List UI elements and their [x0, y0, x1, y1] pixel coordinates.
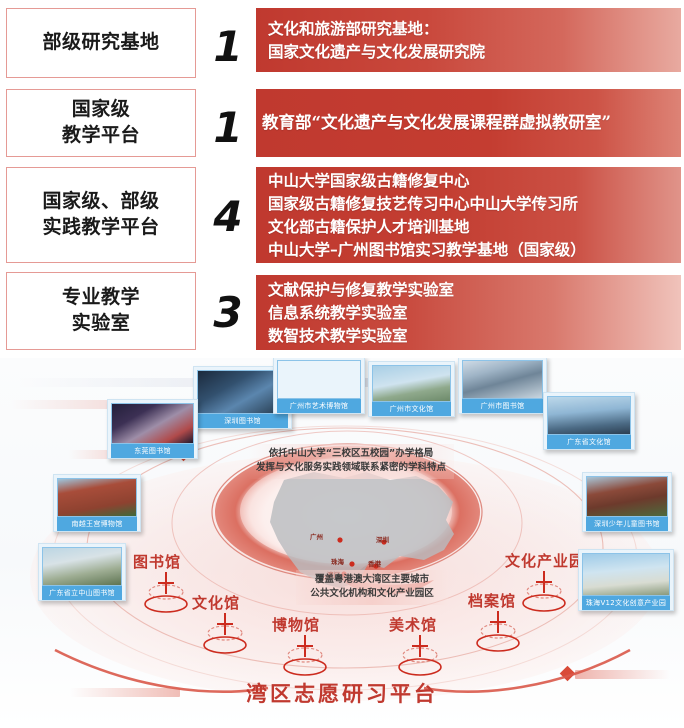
photo-caption: 广东省立中山图书馆 [42, 586, 122, 600]
row1-item-1: 国家文化遗产与文化发展研究院 [268, 40, 485, 63]
row1-item-0: 文化和旅游部研究基地： [268, 17, 485, 40]
row-label-text-2a: 国家级 [62, 97, 140, 123]
coverage-callout-line-2: 公共文化机构和文化产业园区 [304, 587, 440, 601]
node-pin-art-gallery [388, 633, 452, 677]
row3-item-0: 中山大学国家级古籍修复中心 [268, 169, 586, 192]
table-row-label-1: 部级研究基地 [6, 8, 196, 78]
photo-image [111, 403, 194, 444]
photo-caption: 广州市图书馆 [462, 399, 543, 413]
table-row-content-3: 中山大学国家级古籍修复中心 国家级古籍修复技艺传习中心中山大学传习所 文化部古籍… [256, 167, 681, 263]
node-pin-library [134, 570, 198, 614]
photo-card[interactable]: 珠海V12文化创意产业园 [578, 549, 674, 611]
center-callout: 依托中山大学“三校区五校园”办学格局 发挥与文化服务实践领域联系紧密的学科特点 [248, 444, 454, 479]
row3-item-1: 国家级古籍修复技艺传习中心中山大学传习所 [268, 192, 586, 215]
table-row-count-2: 1 [205, 103, 251, 152]
node-pin-cultural-center [193, 611, 257, 655]
center-callout-line-1: 依托中山大学“三校区五校园”办学格局 [256, 447, 446, 461]
photo-image [277, 360, 361, 399]
table-row-content-1: 文化和旅游部研究基地： 国家文化遗产与文化发展研究院 [256, 8, 681, 72]
photo-card[interactable]: 深圳少年儿童图书馆 [582, 472, 672, 532]
row-label-text-3b: 实践教学平台 [42, 215, 159, 241]
row-label-text-4b: 实验室 [62, 311, 140, 337]
table-row-count-3: 4 [205, 192, 251, 241]
node-label-library: 图书馆 [133, 551, 181, 572]
photo-caption: 广州市艺术博物馆 [277, 399, 361, 413]
row3-item-3: 中山大学–广州图书馆实习教学基地（国家级） [268, 238, 586, 261]
photo-caption: 广东省文化馆 [547, 435, 631, 449]
map-city-zhuhai: 珠海 [331, 556, 344, 566]
photo-card[interactable]: 东莞图书馆 [107, 399, 198, 459]
node-label-archive: 档案馆 [468, 590, 516, 611]
table-row-label-4: 专业教学 实验室 [6, 272, 196, 350]
table-row-label-2: 国家级 教学平台 [6, 89, 196, 157]
coverage-callout: 覆盖粤港澳大湾区主要城市 公共文化机构和文化产业园区 [296, 570, 448, 605]
center-callout-line-2: 发挥与文化服务实践领域联系紧密的学科特点 [256, 461, 446, 475]
node-label-cultural-center: 文化馆 [192, 592, 240, 613]
node-label-museum: 博物馆 [272, 614, 320, 635]
row-label-text-1: 部级研究基地 [42, 30, 159, 56]
photo-image [462, 360, 543, 399]
table-row-label-3: 国家级、部级 实践教学平台 [6, 167, 196, 263]
photo-card[interactable]: 广州市艺术博物馆 [273, 358, 365, 414]
node-pin-archive [466, 609, 530, 653]
map-city-guangzhou: 广州 [310, 531, 323, 541]
photo-caption: 深圳少年儿童图书馆 [586, 517, 668, 531]
node-pin-museum [273, 633, 337, 677]
table-row-count-1: 1 [205, 22, 251, 71]
photo-image [547, 396, 631, 435]
row3-item-2: 文化部古籍保护人才培训基地 [268, 215, 586, 238]
bottom-title: 湾区志愿研习平台 [0, 678, 684, 708]
map-city-shenzhen: 深圳 [376, 534, 389, 544]
photo-caption: 东莞图书馆 [111, 444, 194, 458]
photo-caption: 广州市文化馆 [372, 402, 451, 416]
row-label-text-2b: 教学平台 [62, 123, 140, 149]
node-pin-cultural-industry-park [512, 569, 576, 613]
row4-item-2: 数智技术教学实验室 [268, 324, 454, 347]
table-row-content-2: 教育部“文化遗产与文化发展课程群虚拟教研室” [256, 89, 681, 157]
row4-item-1: 信息系统教学实验室 [268, 301, 454, 324]
photo-card[interactable]: 南越王宫博物馆 [53, 474, 141, 532]
row2-item-0: 教育部“文化遗产与文化发展课程群虚拟教研室” [262, 111, 611, 136]
photo-caption: 深圳图书馆 [197, 414, 288, 428]
photo-card[interactable]: 广州市文化馆 [368, 361, 455, 417]
row-label-text-4a: 专业教学 [62, 285, 140, 311]
bay-area-platform-diagram: 广州 深圳 珠海 香港 澳门 依托中山大学“三校区五校园”办学格局 发挥与文化服… [0, 358, 684, 728]
row-label-text-3a: 国家级、部级 [42, 189, 159, 215]
photo-image [57, 478, 137, 517]
table-row-count-4: 3 [205, 288, 251, 337]
photo-card[interactable]: 广东省立中山图书馆 [38, 543, 126, 601]
photo-image [42, 547, 122, 586]
photo-caption: 南越王宫博物馆 [57, 517, 137, 531]
photo-image [372, 365, 451, 402]
photo-image [582, 553, 670, 596]
node-label-art-gallery: 美术馆 [389, 614, 437, 635]
row4-item-0: 文献保护与修复教学实验室 [268, 278, 454, 301]
photo-card[interactable]: 广州市图书馆 [458, 358, 547, 414]
photo-card[interactable]: 广东省文化馆 [543, 392, 635, 450]
photo-caption: 珠海V12文化创意产业园 [582, 596, 670, 610]
platform-table: 部级研究基地 1 文化和旅游部研究基地： 国家文化遗产与文化发展研究院 国家级 … [0, 0, 684, 358]
map-city-hongkong: 香港 [368, 558, 381, 568]
table-row-content-4: 文献保护与修复教学实验室 信息系统教学实验室 数智技术教学实验室 [256, 275, 681, 350]
photo-image [586, 476, 668, 517]
coverage-callout-line-1: 覆盖粤港澳大湾区主要城市 [304, 573, 440, 587]
